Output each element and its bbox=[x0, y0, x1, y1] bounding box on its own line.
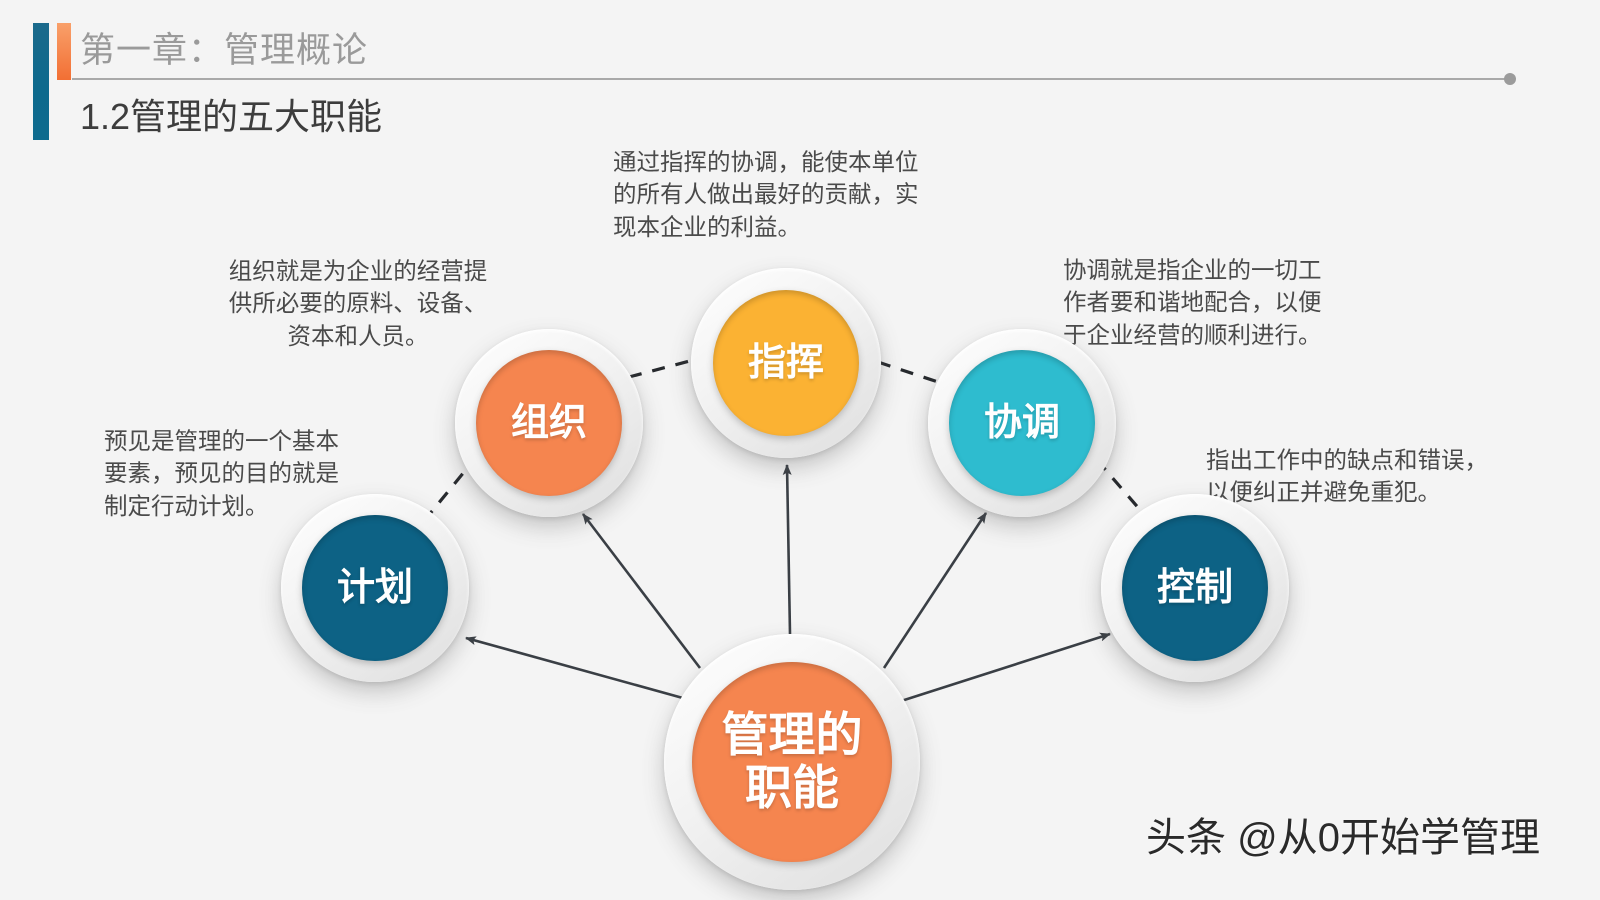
description-control: 指出工作中的缺点和错误， 以便纠正并避免重犯。 bbox=[1206, 444, 1506, 509]
description-organize: 组织就是为企业的经营提 供所必要的原料、设备、 资本和人员。 bbox=[188, 255, 528, 352]
node-command-disc: 指挥 bbox=[713, 290, 859, 436]
description-coordinate: 协调就是指企业的一切工 作者要和谐地配合，以便 于企业经营的顺利进行。 bbox=[1063, 254, 1413, 351]
watermark: 头条 @从0开始学管理 bbox=[1146, 805, 1540, 863]
node-plan-disc: 计划 bbox=[302, 515, 448, 661]
spoke-to-coordinate bbox=[884, 513, 986, 668]
spoke-to-command bbox=[787, 465, 790, 634]
node-organize-disc: 组织 bbox=[476, 350, 622, 496]
node-control-disc: 控制 bbox=[1122, 515, 1268, 661]
node-organize[interactable]: 组织 bbox=[455, 329, 643, 517]
node-plan[interactable]: 计划 bbox=[281, 494, 469, 682]
spoke-to-control bbox=[898, 634, 1110, 702]
spoke-to-plan bbox=[466, 638, 690, 700]
node-center-disc: 管理的 职能 bbox=[692, 662, 892, 862]
spoke-to-organize bbox=[583, 514, 700, 668]
diagram-stage: 通过指挥的协调，能使本单位 的所有人做出最好的贡献，实 现本企业的利益。 组织就… bbox=[0, 0, 1600, 900]
node-coordinate-disc: 协调 bbox=[949, 350, 1095, 496]
node-control[interactable]: 控制 bbox=[1101, 494, 1289, 682]
node-center-management-functions[interactable]: 管理的 职能 bbox=[664, 634, 920, 890]
node-command[interactable]: 指挥 bbox=[691, 268, 881, 458]
description-command: 通过指挥的协调，能使本单位 的所有人做出最好的贡献，实 现本企业的利益。 bbox=[613, 146, 983, 243]
node-coordinate[interactable]: 协调 bbox=[928, 329, 1116, 517]
